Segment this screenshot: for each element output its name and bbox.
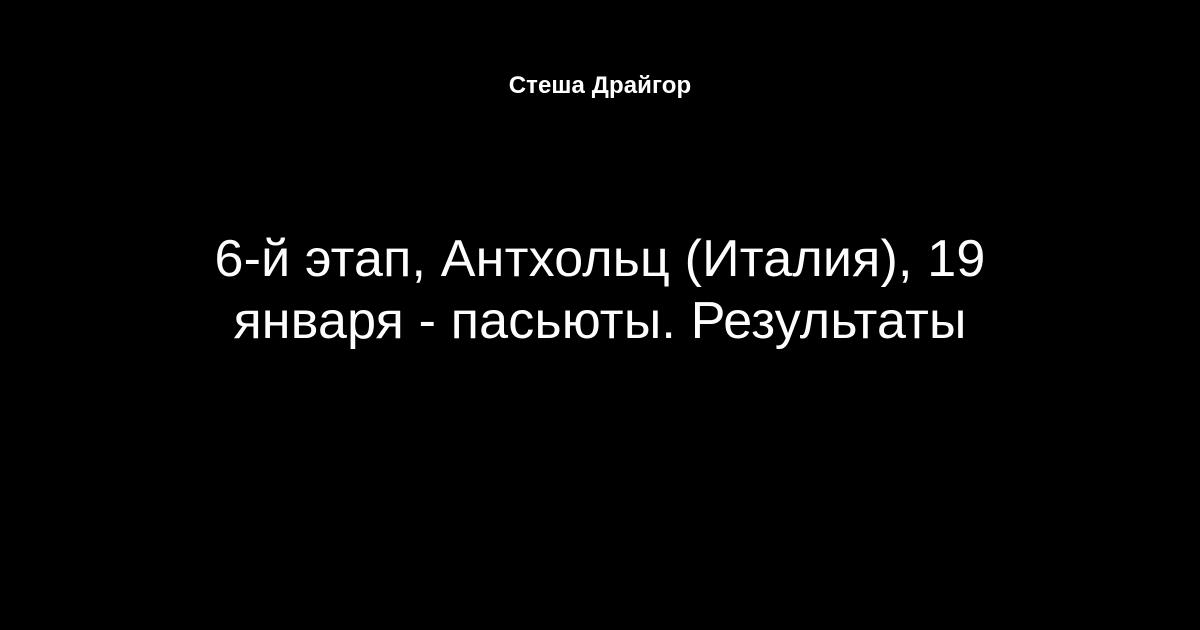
- author-row: Стеша Драйгор: [0, 74, 1200, 98]
- author-name: Стеша Драйгор: [509, 74, 692, 98]
- title-block: 6-й этап, Антхольц (Италия), 19 января -…: [0, 228, 1200, 352]
- article-preview-card: Стеша Драйгор 6-й этап, Антхольц (Италия…: [0, 0, 1200, 630]
- article-title: 6-й этап, Антхольц (Италия), 19 января -…: [185, 228, 1015, 352]
- title-wrapper: 6-й этап, Антхольц (Италия), 19 января -…: [185, 228, 1015, 352]
